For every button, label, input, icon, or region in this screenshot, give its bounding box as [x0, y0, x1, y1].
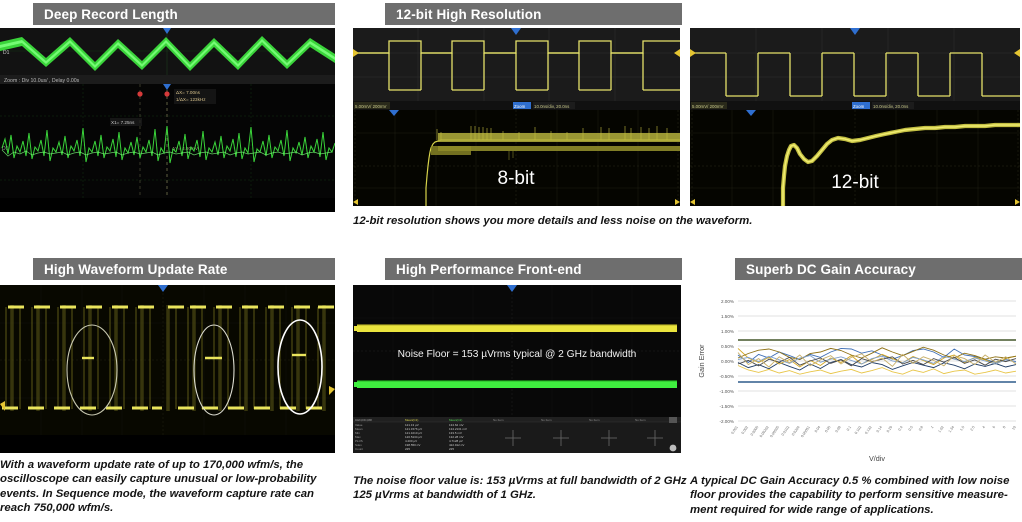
x-tick-label: 0.05051 [800, 425, 811, 438]
vertical-scale-badge: 5.00mV/ 200mV [355, 104, 387, 109]
vertical-scale-badge: 5.00mV/ 200mV [692, 104, 724, 109]
caption-superb-dc-gain-accuracy: A typical DC Gain Accuracy 0.5 % combine… [690, 474, 1022, 517]
channel-marker-label: D1 [3, 50, 10, 56]
noise-floor-overlay: Noise Floor = 153 µVrms typical @ 2 GHz … [398, 349, 637, 360]
panel-title: High Performance Front-end [396, 262, 582, 277]
x-tick-label: 0.1 [846, 425, 852, 431]
table-header-col0: CHN,DC,RR [355, 418, 373, 422]
table-row: 225 [405, 447, 410, 451]
cursor-x1-label: X1= 7.25ns [111, 120, 135, 125]
x-tick-label: 0.4 [897, 425, 903, 431]
caption-high-waveform-update-rate: With a waveform update rate of up to 170… [0, 458, 345, 515]
x-tick-label: 0.08 [834, 425, 841, 433]
scope-waveform-update-rate [0, 285, 335, 453]
y-tick-label: -1.00% [719, 389, 734, 394]
table-header-col1: Mean(C1) [405, 418, 418, 422]
panel-title: 12-bit High Resolution [396, 7, 541, 22]
y-tick-label: 1.00% [721, 329, 734, 334]
x-tick-label: 0.001 [730, 425, 738, 435]
trace-channel-1 [357, 325, 677, 332]
x-axis-title: V/div [869, 454, 885, 463]
panel-title: Deep Record Length [44, 7, 178, 22]
update-rate-waveform [0, 285, 335, 453]
x-tick-label: 8 [1002, 425, 1006, 429]
x-tick-label: 1 [930, 425, 934, 429]
x-tick-label: 0.002 [741, 425, 749, 435]
bit-depth-overlay-12bit: 12-bit [831, 172, 879, 193]
12bit-waveform: 5.00mV/ 200mV Zoom 10.0ns/div, 20.0ns [690, 28, 1020, 206]
bit-depth-overlay-8bit: 8-bit [498, 168, 536, 189]
y-tick-label: 1.50% [721, 314, 734, 319]
gain-error-plot: 2.00%1.50%1.00%0.50%0.00%-0.50%-1.00%-1.… [690, 283, 1022, 468]
x-tick-label: 0.0204 [791, 425, 801, 436]
x-tick-label: 0.04 [814, 425, 821, 433]
panel-header-deep-record-length: Deep Record Length [33, 3, 335, 25]
y-tick-label: 2.00% [721, 299, 734, 304]
cursor-rate-label: 1/ΔX= 123kHz [176, 97, 206, 102]
x-tick-label: 6 [992, 425, 996, 429]
y-tick-label: -2.00% [719, 419, 734, 424]
table-header-col4: No Item [541, 418, 552, 422]
panel-title: High Waveform Update Rate [44, 262, 228, 277]
cursor-dx-label: ΔX= 7.00ns [176, 90, 201, 95]
x-tick-label: 0.20 [886, 425, 893, 433]
table-header-col5: No Item [589, 418, 600, 422]
caption-high-performance-front-end: The noise floor value is: 153 µVrms at f… [353, 474, 693, 503]
zoom-badge: Zoom [853, 104, 865, 109]
y-tick-label: -0.50% [719, 374, 734, 379]
panel-header-high-waveform-update-rate: High Waveform Update Rate [33, 258, 335, 280]
8bit-waveform: 5.00mV/ 200mV Zoom 10.0ns/div, 20.0ns [353, 28, 680, 206]
timebase-badge: 10.0ns/div, 20.0ns [534, 104, 570, 109]
y-tick-label: -1.50% [719, 404, 734, 409]
noise-floor-waveform: Noise Floor = 153 µVrms typical @ 2 GHz … [353, 285, 681, 453]
x-tick-label: 0.8 [918, 425, 924, 431]
x-tick-label: 0.0102 [781, 425, 791, 436]
x-tick-label: 0.102 [854, 425, 862, 435]
scope-deep-record-length: D1 Zoom : Div 10.0us/ , Delay 0.00s X [0, 28, 335, 212]
panel-header-high-performance-front-end: High Performance Front-end [385, 258, 682, 280]
feature-sheet-page: Deep Record Length D1 Zoom : Div 10.0us/… [0, 0, 1022, 522]
caption-12bit-high-resolution: 12-bit resolution shows you more details… [353, 214, 853, 228]
y-axis-title: Gain Error [697, 344, 706, 378]
panel-header-superb-dc-gain-accuracy: Superb DC Gain Accuracy [735, 258, 1022, 280]
x-tick-label: 0.00505 [769, 425, 780, 438]
zoom-info-label: Zoom : Div 10.0us/ , Delay 0.00s [4, 78, 80, 84]
table-row: Count [355, 447, 363, 451]
x-tick-label: 1.34 [948, 425, 955, 433]
chart-dc-gain-accuracy: 2.00%1.50%1.00%0.50%0.00%-0.50%-1.00%-1.… [690, 283, 1022, 468]
x-tick-label: 0.5 [908, 425, 914, 431]
x-tick-label: 4 [982, 425, 986, 429]
timebase-badge: 10.0ns/div, 20.0ns [873, 104, 909, 109]
chart-series-line [738, 366, 1016, 375]
x-tick-label: 1.5 [959, 425, 965, 431]
x-tick-label: 10 [1011, 425, 1017, 431]
scope-12bit: 5.00mV/ 200mV Zoom 10.0ns/div, 20.0ns [690, 28, 1020, 206]
x-tick-label: 1.02 [937, 425, 944, 433]
zoom-badge: Zoom [514, 104, 526, 109]
table-header-col3: No Item [493, 418, 504, 422]
trace-channel-2 [357, 381, 677, 388]
x-tick-label: 0.05 [824, 425, 831, 433]
scope-front-end-noise: Noise Floor = 153 µVrms typical @ 2 GHz … [353, 285, 681, 453]
table-header-col6: No Item [635, 418, 646, 422]
x-tick-label: 0.132 [864, 425, 872, 435]
panel-title: Superb DC Gain Accuracy [746, 262, 916, 277]
x-tick-label: 2.5 [969, 425, 975, 431]
y-tick-label: 0.50% [721, 344, 734, 349]
scope-8bit: 5.00mV/ 200mV Zoom 10.0ns/div, 20.0ns [353, 28, 680, 206]
x-tick-label: 0.0005 [750, 425, 760, 436]
table-row: 225 [449, 447, 454, 451]
x-tick-label: 0.14 [876, 425, 883, 433]
table-header-col2: Mean(C2) [449, 418, 462, 422]
deep-record-waveform: D1 Zoom : Div 10.0us/ , Delay 0.00s X [0, 28, 335, 212]
panel-header-12bit-high-resolution: 12-bit High Resolution [385, 3, 682, 25]
y-tick-label: 0.00% [721, 359, 734, 364]
